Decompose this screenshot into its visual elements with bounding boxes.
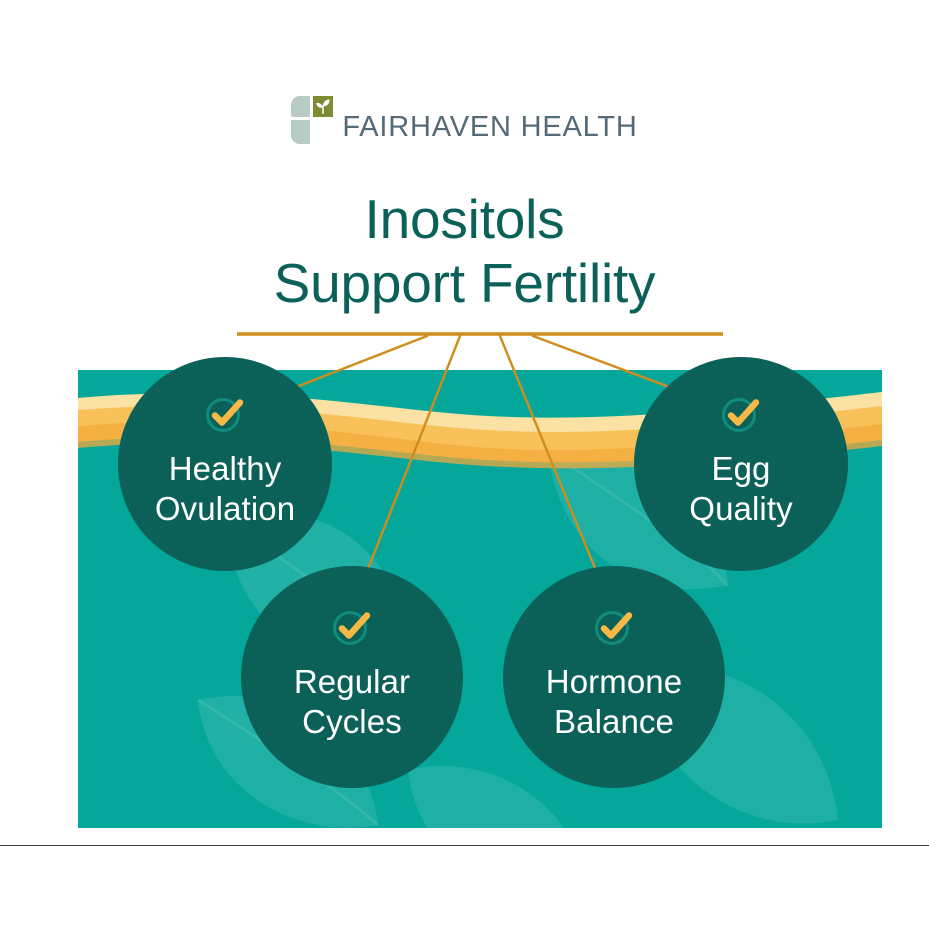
benefit-label-regular-cycles: Regular Cycles — [294, 662, 410, 743]
benefit-label-egg-quality: Egg Quality — [689, 449, 792, 530]
leaf-sprout-icon — [313, 96, 333, 117]
benefit-label-line-2: Cycles — [294, 702, 410, 742]
benefit-label-line-2: Quality — [689, 489, 792, 529]
benefit-label-hormone-balance: Hormone Balance — [546, 662, 682, 743]
benefit-circle-regular-cycles[interactable]: Regular Cycles — [241, 566, 463, 788]
brand-logo: FAIRHAVEN HEALTH — [0, 96, 929, 144]
logo-tile-bottom-left — [291, 120, 310, 144]
fairhaven-logo-mark — [291, 96, 333, 144]
benefit-circle-healthy-ovulation[interactable]: Healthy Ovulation — [118, 357, 332, 571]
benefit-label-line-1: Egg — [689, 449, 792, 489]
footer-divider — [0, 845, 929, 846]
benefit-label-healthy-ovulation: Healthy Ovulation — [155, 449, 295, 530]
benefit-label-line-1: Healthy — [155, 449, 295, 489]
benefit-circle-egg-quality[interactable]: Egg Quality — [634, 357, 848, 571]
logo-tile-top-left — [291, 96, 310, 117]
brand-wordmark: FAIRHAVEN HEALTH — [342, 113, 637, 144]
page-title-line-2: Support Fertility — [0, 252, 929, 316]
benefit-label-line-1: Hormone — [546, 662, 682, 702]
benefit-circle-hormone-balance[interactable]: Hormone Balance — [503, 566, 725, 788]
check-circle-icon — [591, 604, 637, 650]
check-circle-icon — [718, 391, 764, 437]
benefit-label-line-1: Regular — [294, 662, 410, 702]
benefit-label-line-2: Balance — [546, 702, 682, 742]
page-title: Inositols Support Fertility — [0, 188, 929, 316]
check-circle-icon — [329, 604, 375, 650]
logo-tile-bottom-right — [313, 120, 333, 144]
benefit-label-line-2: Ovulation — [155, 489, 295, 529]
check-circle-icon — [202, 391, 248, 437]
page-title-line-1: Inositols — [0, 188, 929, 252]
